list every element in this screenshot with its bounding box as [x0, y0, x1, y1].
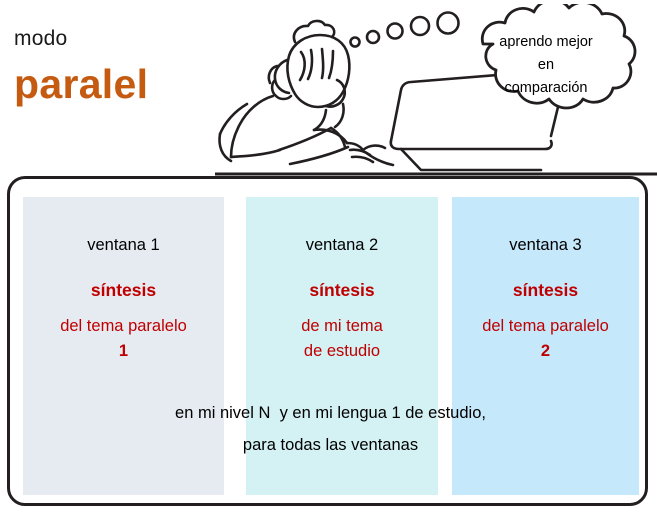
- windows-columns: ventana 1 síntesis del tema paralelo 1 v…: [23, 197, 639, 495]
- description-text-1: del tema paralelo: [60, 317, 187, 335]
- window-column-1: ventana 1 síntesis del tema paralelo 1: [23, 197, 224, 495]
- window-column-2: ventana 2 síntesis de mi tema de estudio: [246, 197, 438, 495]
- header-area: modo paralel: [0, 0, 657, 176]
- description-text-2b: de estudio: [304, 342, 380, 360]
- description-number-1: 1: [23, 339, 224, 364]
- synthesis-label-1: síntesis: [23, 280, 224, 301]
- window-label-3: ventana 3: [452, 235, 639, 255]
- description-1: del tema paralelo 1: [23, 314, 224, 364]
- description-text-3: del tema paralelo: [482, 317, 609, 335]
- description-2: de mi tema de estudio: [246, 314, 438, 364]
- title-modo: modo: [14, 26, 224, 52]
- window-label-2: ventana 2: [246, 235, 438, 255]
- description-number-3: 2: [452, 339, 639, 364]
- synthesis-label-3: síntesis: [452, 280, 639, 301]
- window-column-3: ventana 3 síntesis del tema paralelo 2: [452, 197, 639, 495]
- parallel-mode-panel: ventana 1 síntesis del tema paralelo 1 v…: [7, 176, 648, 506]
- title-block: modo paralel: [14, 26, 224, 108]
- window-label-1: ventana 1: [23, 235, 224, 255]
- title-paralel: paralel: [14, 60, 224, 108]
- synthesis-label-2: síntesis: [246, 280, 438, 301]
- description-3: del tema paralelo 2: [452, 314, 639, 364]
- description-text-2a: de mi tema: [301, 317, 383, 335]
- person-studying-at-laptop-illustration: [215, 4, 657, 176]
